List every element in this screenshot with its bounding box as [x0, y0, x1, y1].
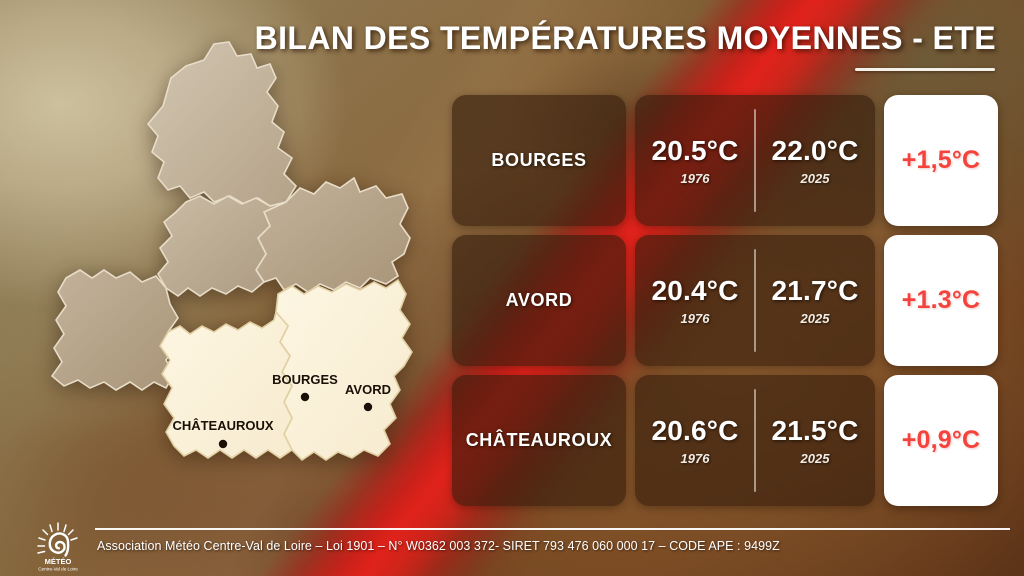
values-card: 20.4°C 1976 21.7°C 2025 — [635, 235, 875, 366]
values-card: 20.6°C 1976 21.5°C 2025 — [635, 375, 875, 506]
page-title: BILAN DES TEMPÉRATURES MOYENNES - ETE — [255, 20, 996, 57]
values-card: 20.5°C 1976 22.0°C 2025 — [635, 95, 875, 226]
city-card: BOURGES — [452, 95, 626, 226]
map-dept-cher — [276, 280, 412, 460]
value-column-new: 21.5°C 2025 — [755, 415, 875, 466]
value-column-old: 20.5°C 1976 — [635, 135, 755, 186]
city-card: CHÂTEAUROUX — [452, 375, 626, 506]
poster-root: BOURGES AVORD CHÂTEAUROUX BILAN DES TEMP… — [0, 0, 1024, 576]
city-label: BOURGES — [485, 150, 592, 171]
value-divider — [754, 249, 756, 352]
temperature-value: 20.6°C — [651, 415, 738, 447]
footer-legal-text: Association Météo Centre-Val de Loire – … — [97, 539, 780, 553]
region-map: BOURGES AVORD CHÂTEAUROUX — [8, 26, 438, 506]
year-label: 1976 — [681, 451, 710, 466]
spiral-icon — [50, 534, 68, 553]
value-column-new: 21.7°C 2025 — [755, 275, 875, 326]
table-row: AVORD 20.4°C 1976 21.7°C 2025 +1.3°C — [452, 235, 998, 366]
value-divider — [754, 109, 756, 212]
table-row: BOURGES 20.5°C 1976 22.0°C 2025 +1,5°C — [452, 95, 998, 226]
table-row: CHÂTEAUROUX 20.6°C 1976 21.5°C 2025 +0,9… — [452, 375, 998, 506]
title-underline — [855, 68, 995, 71]
city-label: CHÂTEAUROUX — [460, 430, 619, 451]
delta-value: +1.3°C — [902, 286, 981, 315]
delta-card: +0,9°C — [884, 375, 998, 506]
map-city-dot-bourges — [301, 393, 309, 401]
logo-subtitle: Centre-Val de Loire — [38, 567, 78, 572]
value-divider — [754, 389, 756, 492]
value-column-old: 20.4°C 1976 — [635, 275, 755, 326]
temperature-value: 21.5°C — [771, 415, 858, 447]
temperature-value: 22.0°C — [771, 135, 858, 167]
year-label: 2025 — [801, 171, 830, 186]
year-label: 2025 — [801, 451, 830, 466]
map-city-label-chateauroux: CHÂTEAUROUX — [172, 418, 273, 433]
temperature-value: 21.7°C — [771, 275, 858, 307]
year-label: 1976 — [681, 311, 710, 326]
map-city-dot-chateauroux — [219, 440, 227, 448]
value-column-old: 20.6°C 1976 — [635, 415, 755, 466]
year-label: 1976 — [681, 171, 710, 186]
delta-value: +0,9°C — [902, 426, 981, 455]
delta-card: +1.3°C — [884, 235, 998, 366]
temperature-value: 20.4°C — [651, 275, 738, 307]
map-dept-eure-et-loir — [148, 42, 296, 206]
map-city-label-avord: AVORD — [345, 382, 391, 397]
city-label: AVORD — [500, 290, 579, 311]
spiral-tail-icon — [66, 542, 69, 556]
map-dept-indre-et-loire — [52, 270, 178, 390]
footer-divider — [95, 528, 1010, 530]
temperature-value: 20.5°C — [651, 135, 738, 167]
delta-card: +1,5°C — [884, 95, 998, 226]
map-city-dot-avord — [364, 403, 372, 411]
meteo-logo: MÉTÉO Centre-Val de Loire — [27, 520, 89, 572]
temperature-table: BOURGES 20.5°C 1976 22.0°C 2025 +1,5°C A… — [452, 95, 998, 506]
map-city-label-bourges: BOURGES — [272, 372, 338, 387]
value-column-new: 22.0°C 2025 — [755, 135, 875, 186]
logo-title: MÉTÉO — [45, 557, 72, 566]
city-card: AVORD — [452, 235, 626, 366]
delta-value: +1,5°C — [902, 146, 981, 175]
year-label: 2025 — [801, 311, 830, 326]
